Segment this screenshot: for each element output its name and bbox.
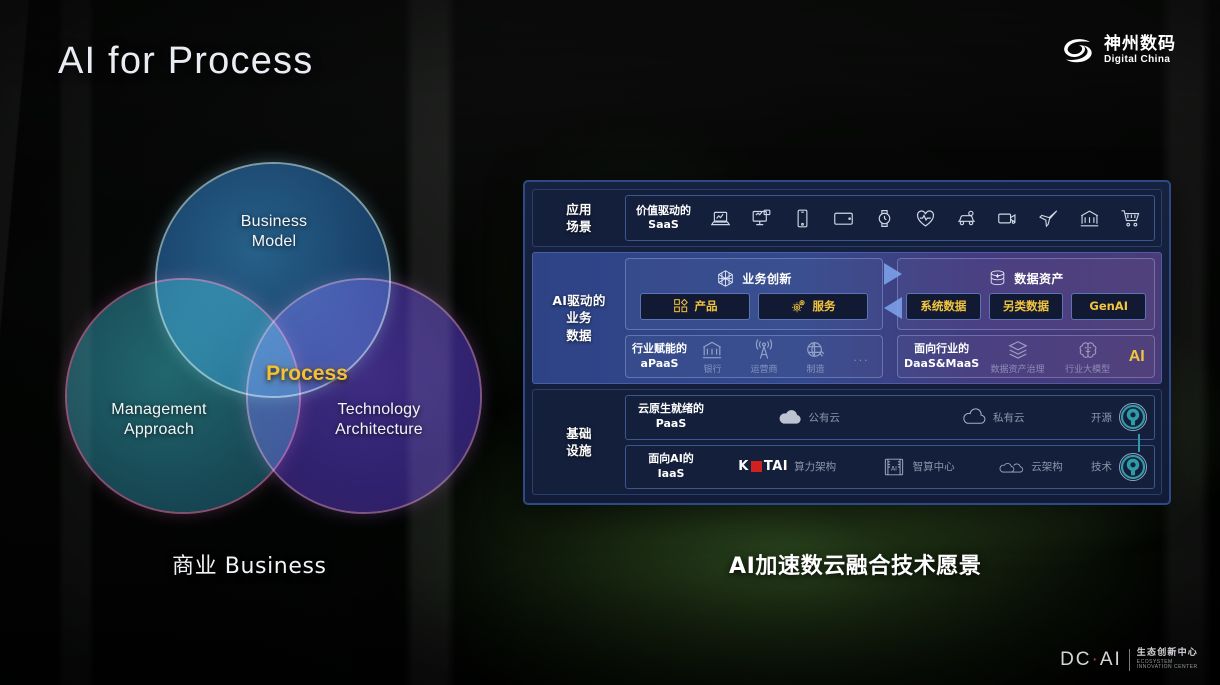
bank-icon [1079, 208, 1100, 229]
industry-ellipsis: ... [853, 350, 869, 364]
brand-logo: 神州数码 Digital China [1061, 36, 1176, 65]
daas-maas-title: 面向行业的 DaaS&MaaS [904, 342, 979, 372]
venn-diagram: Business Model Management Approach Techn… [62, 162, 462, 514]
slide-root: AI for Process 神州数码 Digital China Busine… [0, 0, 1220, 685]
chip-genai-label: GenAI [1089, 299, 1128, 313]
business-innovation-card: 业务创新 产品 [625, 258, 883, 330]
industry-large-model-label: 行业大模型 [1065, 362, 1110, 375]
data-assets-chips: 系统数据 另类数据 GenAI [906, 293, 1146, 320]
opensource-node-icon [1118, 402, 1148, 432]
venn-center-label: Process [257, 362, 357, 396]
industry-manufacturing-label: 制造 [806, 362, 824, 375]
layers-icon [1007, 339, 1029, 361]
apaas-title: 行业赋能的 aPaaS [632, 342, 687, 372]
swirl-logo-icon [1061, 37, 1095, 65]
smartwatch-icon [874, 208, 895, 229]
technology-label: 技术 [1091, 459, 1112, 474]
data-assets-head: 数据资产 [988, 269, 1064, 288]
industry-operator: 运营商 [750, 339, 777, 375]
data-assets-title: 数据资产 [1014, 270, 1064, 287]
industry-manufacturing: 制造 [804, 339, 826, 375]
paas-title: 云原生就绪的 PaaS [632, 402, 710, 432]
chip-service-label: 服务 [813, 298, 836, 314]
page-title: AI for Process [58, 40, 313, 83]
ai-gold-label: AI [1129, 348, 1145, 366]
opensource-node: 开源 [1091, 402, 1148, 432]
business-innovation-chips: 产品 服务 [634, 293, 874, 320]
infrastructure-lines: 云原生就绪的 PaaS 公有云 私有云 开源 [625, 390, 1161, 494]
compute-architecture-label: 算力架构 [794, 459, 836, 474]
data-governance-label: 数据资产治理 [991, 362, 1045, 375]
apaas-industry-items: 银行 运营商 制造 ... [695, 339, 876, 375]
kuntai-logo-a: K [738, 459, 749, 474]
iaas-items: K TAI 算力架构 AI 智算中心 云架构 [720, 457, 1081, 477]
paas-line: 云原生就绪的 PaaS 公有云 私有云 开源 [625, 395, 1155, 440]
architecture-panel: 应用 场景 价值驱动的 SaaS [523, 180, 1171, 505]
data-assets-column: 数据资产 系统数据 另类数据 GenAI 面向行业的 DaaS&MaaS [897, 258, 1155, 378]
business-innovation-head: 业务创新 [716, 269, 792, 288]
ai-datacenter-icon: AI [881, 457, 907, 477]
bank-icon [701, 339, 723, 361]
application-scenarios-box: 价值驱动的 SaaS [625, 195, 1155, 241]
application-icon-strip [707, 208, 1144, 229]
arch-row-ai-driven-business-data: AI驱动的 业务 数据 [532, 252, 1162, 384]
laptop-icon [710, 208, 731, 229]
technology-node: 技术 [1091, 452, 1148, 482]
row-label-application-scenarios: 应用 场景 [533, 190, 625, 246]
paas-items: 公有云 私有云 [720, 407, 1081, 427]
chip-alternative-data[interactable]: 另类数据 [989, 293, 1064, 320]
blocks-icon [673, 298, 689, 314]
row-label-infrastructure: 基础 设施 [533, 390, 625, 494]
chip-system-data-label: 系统数据 [920, 298, 966, 314]
opensource-label: 开源 [1091, 410, 1112, 425]
cloud-filled-icon [777, 407, 803, 427]
business-innovation-column: 业务创新 产品 [625, 258, 883, 378]
caption-business: 商业 Business [172, 548, 327, 580]
chip-product-label: 产品 [695, 298, 718, 314]
business-innovation-title: 业务创新 [742, 270, 792, 287]
kuntai-compute: K TAI 算力架构 [738, 459, 836, 474]
camcorder-icon [997, 208, 1018, 229]
industry-bank: 银行 [701, 339, 723, 375]
cloud-outline-icon [961, 407, 987, 427]
data-assets-card: 数据资产 系统数据 另类数据 GenAI [897, 258, 1155, 330]
kuntai-logo: K TAI [738, 459, 788, 474]
brand-name-cn: 神州数码 [1104, 36, 1176, 54]
opensource-node-icon [1118, 452, 1148, 482]
chip-system-data[interactable]: 系统数据 [906, 293, 981, 320]
industry-bank-label: 银行 [703, 362, 721, 375]
venn-label-business-model: Business Model [199, 212, 349, 253]
dcai-mark: DC·AI [1060, 649, 1122, 671]
industry-operator-label: 运营商 [750, 362, 777, 375]
brain-circuit-icon [1077, 339, 1099, 361]
chip-service[interactable]: 服务 [758, 293, 868, 320]
public-cloud: 公有云 [777, 407, 841, 427]
smartphone-icon [792, 208, 813, 229]
data-halves: 业务创新 产品 [625, 253, 1161, 383]
dcai-subtitle-cn: 生态创新中心 [1137, 649, 1198, 659]
multi-cloud-icon [999, 457, 1025, 477]
dcai-ai: AI [1100, 649, 1122, 670]
apaas-card: 行业赋能的 aPaaS 银行 运营商 [625, 335, 883, 378]
iaas-line: 面向AI的 IaaS K TAI 算力架构 AI 智算中心 [625, 445, 1155, 490]
gears-icon [791, 298, 807, 314]
chip-genai[interactable]: GenAI [1071, 293, 1146, 320]
private-cloud: 私有云 [961, 407, 1025, 427]
chip-product[interactable]: 产品 [640, 293, 750, 320]
public-cloud-label: 公有云 [809, 410, 841, 425]
gear-globe-icon [804, 339, 826, 361]
dcai-subtitle-en: ECOSYSTEM INNOVATION CENTER [1137, 660, 1198, 671]
cube-network-icon [716, 269, 735, 288]
data-governance: 数据资产治理 [991, 339, 1045, 375]
arch-row-infrastructure: 基础 设施 云原生就绪的 PaaS 公有云 私有云 [532, 389, 1162, 495]
caption-ai-vision: AI加速数云融合技术愿景 [729, 548, 981, 580]
cloud-architecture-label: 云架构 [1031, 459, 1063, 474]
brand-name-en: Digital China [1104, 55, 1176, 66]
dcai-divider [1129, 649, 1130, 671]
kuntai-square-icon [751, 461, 762, 472]
heartbeat-icon [915, 208, 936, 229]
cloud-architecture: 云架构 [999, 457, 1063, 477]
daas-maas-items: 数据资产治理 行业大模型 AI [987, 339, 1148, 375]
dcai-footer-logo: DC·AI 生态创新中心 ECOSYSTEM INNOVATION CENTER [1060, 649, 1198, 671]
private-cloud-label: 私有云 [993, 410, 1025, 425]
kuntai-logo-b: TAI [764, 459, 788, 474]
iaas-title: 面向AI的 IaaS [632, 452, 710, 482]
airplane-icon [1038, 208, 1059, 229]
venn-circle-technology-architecture [248, 280, 480, 512]
daas-maas-card: 面向行业的 DaaS&MaaS 数据资产治理 行业大模型 AI [897, 335, 1155, 378]
node-connector [1138, 434, 1140, 452]
ai-datacenter: AI 智算中心 [881, 457, 955, 477]
saas-title: 价值驱动的 SaaS [636, 204, 691, 233]
desktop-monitor-icon [751, 208, 772, 229]
ai-datacenter-label: 智算中心 [913, 459, 955, 474]
shopping-cart-icon [1120, 208, 1141, 229]
tablet-icon [833, 208, 854, 229]
arch-row-application-scenarios: 应用 场景 价值驱动的 SaaS [532, 189, 1162, 247]
svg-text:AI: AI [891, 465, 897, 472]
brand-text: 神州数码 Digital China [1104, 36, 1176, 65]
venn-label-management-approach: Management Approach [74, 400, 244, 441]
industry-large-model: 行业大模型 [1065, 339, 1110, 375]
signal-tower-icon [753, 339, 775, 361]
dcai-dc: DC [1060, 649, 1091, 670]
dcai-dot: · [1092, 649, 1100, 670]
car-icon [956, 208, 977, 229]
database-icon [988, 269, 1007, 288]
chip-alternative-data-label: 另类数据 [1003, 298, 1049, 314]
venn-label-technology-architecture: Technology Architecture [294, 400, 464, 441]
dcai-subtitle: 生态创新中心 ECOSYSTEM INNOVATION CENTER [1137, 649, 1198, 671]
row-label-ai-driven-business-data: AI驱动的 业务 数据 [533, 253, 625, 383]
